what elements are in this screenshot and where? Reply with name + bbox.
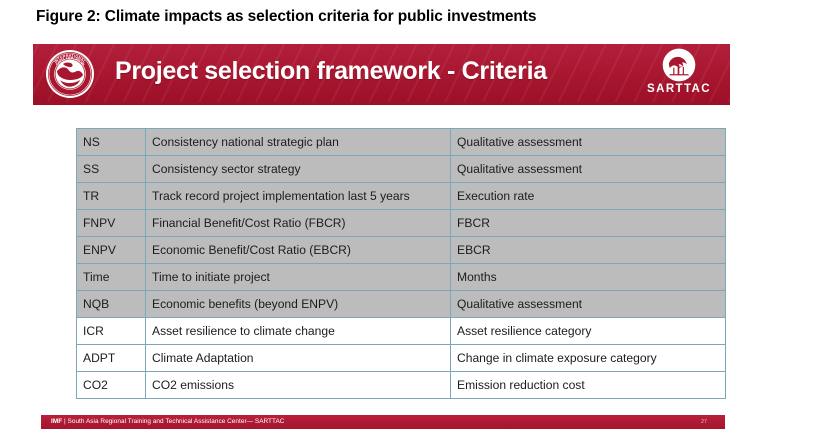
criteria-description: Consistency sector strategy: [146, 156, 451, 183]
footer-separator: |: [64, 418, 66, 425]
table-row: ENPV Economic Benefit/Cost Ratio (EBCR) …: [77, 237, 726, 264]
footer-attribution: IMF | South Asia Regional Training and T…: [51, 417, 284, 427]
table-row: ICR Asset resilience to climate change A…: [77, 318, 726, 345]
criteria-description: Track record project implementation last…: [146, 183, 451, 210]
table-row: Time Time to initiate project Months: [77, 264, 726, 291]
criteria-code: FNPV: [77, 210, 146, 237]
criteria-code: TR: [77, 183, 146, 210]
criteria-measure: FBCR: [451, 210, 726, 237]
slide-canvas: INTERNATIONAL MONETARY FUND Project sele…: [33, 44, 730, 436]
criteria-measure: Change in climate exposure category: [451, 345, 726, 372]
criteria-description: Economic benefits (beyond ENPV): [146, 291, 451, 318]
table-row: NQB Economic benefits (beyond ENPV) Qual…: [77, 291, 726, 318]
criteria-measure: Execution rate: [451, 183, 726, 210]
criteria-description: Asset resilience to climate change: [146, 318, 451, 345]
criteria-description: Financial Benefit/Cost Ratio (FBCR): [146, 210, 451, 237]
imf-seal-icon: INTERNATIONAL MONETARY FUND: [45, 49, 95, 99]
sarttac-logo: SARTTAC: [642, 48, 716, 100]
slide-footer: IMF | South Asia Regional Training and T…: [41, 415, 725, 429]
banner-underline: [33, 102, 730, 105]
criteria-description: Time to initiate project: [146, 264, 451, 291]
criteria-measure: EBCR: [451, 237, 726, 264]
criteria-description: Economic Benefit/Cost Ratio (EBCR): [146, 237, 451, 264]
table-row: NS Consistency national strategic plan Q…: [77, 129, 726, 156]
table-row: SS Consistency sector strategy Qualitati…: [77, 156, 726, 183]
criteria-measure: Emission reduction cost: [451, 372, 726, 399]
criteria-description: Consistency national strategic plan: [146, 129, 451, 156]
table-row: CO2 CO2 emissions Emission reduction cos…: [77, 372, 726, 399]
criteria-measure: Asset resilience category: [451, 318, 726, 345]
footer-page-number: 27: [701, 418, 707, 427]
criteria-description: CO2 emissions: [146, 372, 451, 399]
table-row: ADPT Climate Adaptation Change in climat…: [77, 345, 726, 372]
criteria-measure: Qualitative assessment: [451, 129, 726, 156]
criteria-description: Climate Adaptation: [146, 345, 451, 372]
sarttac-tree-icon: [662, 48, 696, 82]
criteria-code: SS: [77, 156, 146, 183]
criteria-code: NQB: [77, 291, 146, 318]
criteria-measure: Qualitative assessment: [451, 156, 726, 183]
criteria-code: Time: [77, 264, 146, 291]
criteria-measure: Months: [451, 264, 726, 291]
sarttac-wordmark: SARTTAC: [642, 83, 716, 96]
criteria-code: NS: [77, 129, 146, 156]
criteria-measure: Qualitative assessment: [451, 291, 726, 318]
slide-banner: INTERNATIONAL MONETARY FUND Project sele…: [33, 44, 730, 102]
footer-label: South Asia Regional Training and Technic…: [68, 418, 285, 425]
table-row: TR Track record project implementation l…: [77, 183, 726, 210]
banner-title: Project selection framework - Criteria: [115, 57, 547, 86]
criteria-code: ENPV: [77, 237, 146, 264]
criteria-code: ADPT: [77, 345, 146, 372]
criteria-code: CO2: [77, 372, 146, 399]
footer-org: IMF: [51, 418, 62, 425]
table-row: FNPV Financial Benefit/Cost Ratio (FBCR)…: [77, 210, 726, 237]
criteria-table: NS Consistency national strategic plan Q…: [76, 128, 726, 399]
figure-caption: Figure 2: Climate impacts as selection c…: [36, 8, 536, 26]
criteria-code: ICR: [77, 318, 146, 345]
